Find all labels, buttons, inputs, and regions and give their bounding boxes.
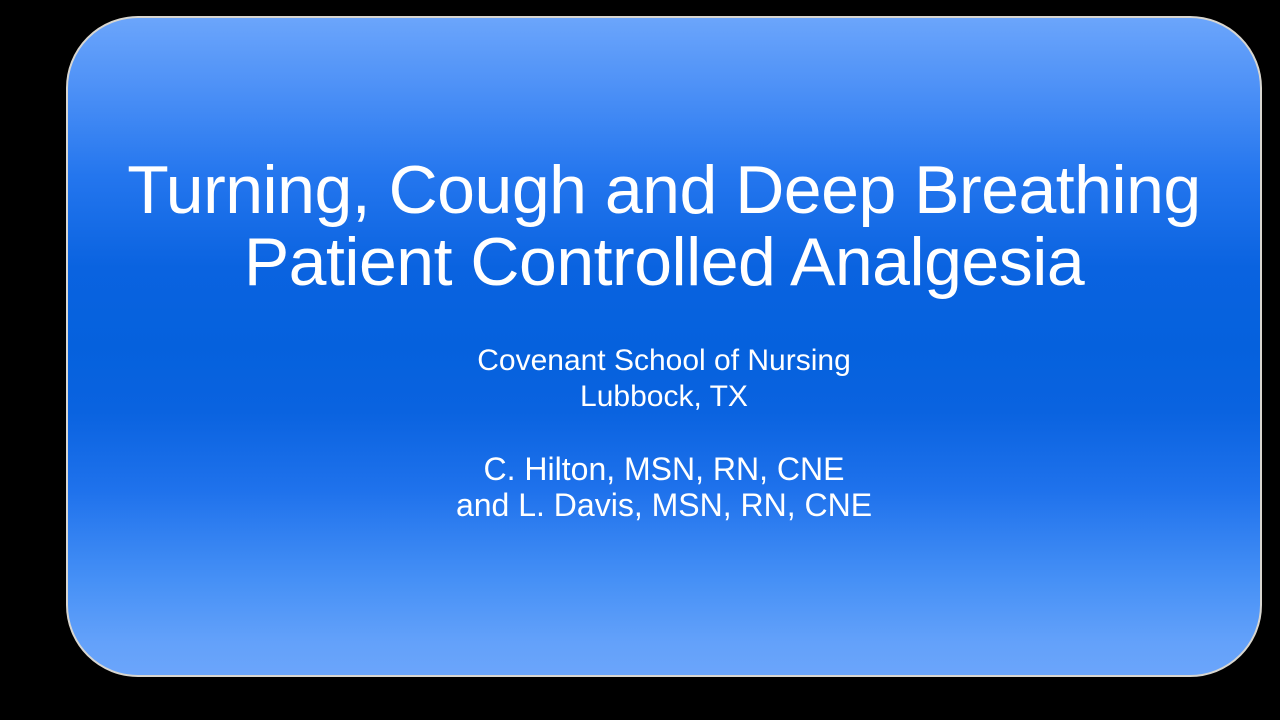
slide-content: Turning, Cough and Deep Breathing Patien… (68, 18, 1260, 675)
subtitle-location: Lubbock, TX (108, 379, 1220, 415)
title-line-1: Turning, Cough and Deep Breathing (108, 154, 1220, 226)
slide-stage: Turning, Cough and Deep Breathing Patien… (0, 0, 1280, 720)
slide-subtitle: Covenant School of Nursing Lubbock, TX C… (68, 343, 1260, 523)
title-line-2: Patient Controlled Analgesia (108, 226, 1220, 298)
author-line-1: C. Hilton, MSN, RN, CNE (108, 451, 1220, 487)
author-line-2: and L. Davis, MSN, RN, CNE (108, 487, 1220, 523)
subtitle-spacer (108, 415, 1220, 451)
subtitle-organization: Covenant School of Nursing (108, 343, 1220, 379)
slide-title: Turning, Cough and Deep Breathing Patien… (68, 154, 1260, 298)
slide-card: Turning, Cough and Deep Breathing Patien… (66, 16, 1262, 677)
